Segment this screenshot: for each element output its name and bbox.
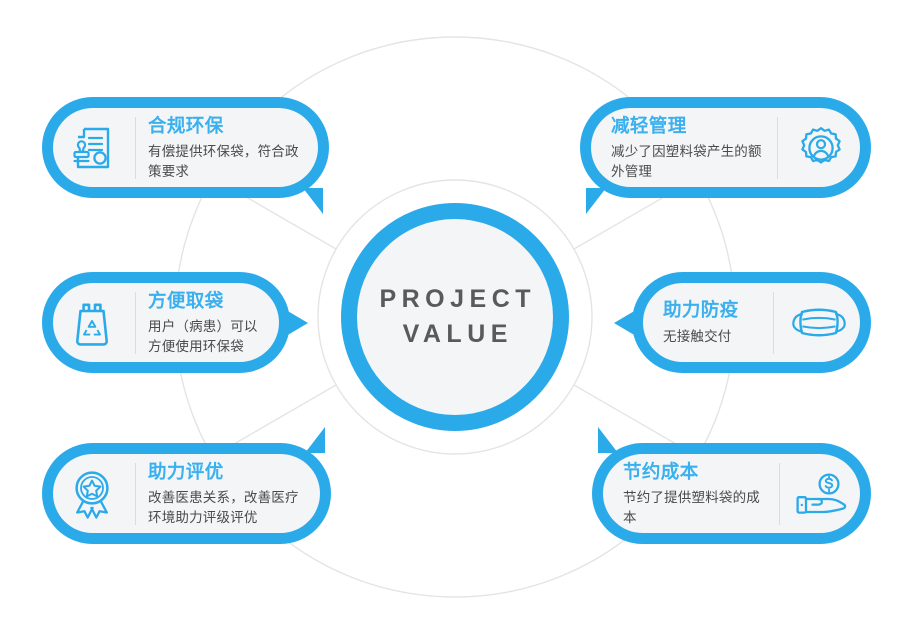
card-cost-title: 节约成本 <box>623 460 767 484</box>
card-rating-inner: 助力评优 改善医患关系，改善医疗环境助力评级评优 <box>53 454 320 533</box>
card-epidemic[interactable]: 助力防疫 无接触交付 <box>632 272 871 373</box>
center-title-line1: PROJECT <box>374 282 536 318</box>
card-tail-top-right <box>305 427 325 453</box>
center-title-line2: VALUE <box>397 317 513 353</box>
recycle-bag-icon <box>61 299 123 347</box>
hand-money-icon <box>792 472 852 516</box>
infographic-canvas: PROJECT VALUE 合规环保 <box>0 0 913 634</box>
card-manage-desc: 减少了因塑料袋产生的额外管理 <box>611 142 765 182</box>
card-epidemic-desc: 无接触交付 <box>663 327 761 347</box>
card-divider <box>135 463 136 525</box>
card-epidemic-title: 助力防疫 <box>663 298 761 322</box>
card-rating-desc: 改善医患关系，改善医疗环境助力评级评优 <box>148 488 312 528</box>
card-divider <box>773 292 774 354</box>
card-rating-text: 助力评优 改善医患关系，改善医疗环境助力评级评优 <box>148 460 312 528</box>
document-stamp-icon <box>61 125 123 171</box>
card-cost-desc: 节约了提供塑料袋的成本 <box>623 488 767 528</box>
card-manage-inner: 减轻管理 减少了因塑料袋产生的额外管理 <box>591 108 860 187</box>
card-compliance-text: 合规环保 有偿提供环保袋，符合政策要求 <box>148 114 310 182</box>
card-manage[interactable]: 减轻管理 减少了因塑料袋产生的额外管理 <box>580 97 871 198</box>
card-bag-title: 方便取袋 <box>148 289 271 313</box>
card-compliance[interactable]: 合规环保 有偿提供环保袋，符合政策要求 <box>42 97 329 198</box>
card-cost-text: 节约成本 节约了提供塑料袋的成本 <box>611 460 767 528</box>
card-tail-left <box>614 310 636 336</box>
card-bag[interactable]: 方便取袋 用户（病患）可以方便使用环保袋 <box>42 272 290 373</box>
center-hub: PROJECT VALUE <box>341 203 569 431</box>
card-bag-desc: 用户（病患）可以方便使用环保袋 <box>148 317 271 357</box>
card-divider <box>135 292 136 354</box>
card-manage-title: 减轻管理 <box>611 114 765 138</box>
card-epidemic-inner: 助力防疫 无接触交付 <box>643 283 860 362</box>
card-compliance-desc: 有偿提供环保袋，符合政策要求 <box>148 142 310 182</box>
card-compliance-title: 合规环保 <box>148 114 310 138</box>
card-cost[interactable]: 节约成本 节约了提供塑料袋的成本 <box>592 443 871 544</box>
card-bag-inner: 方便取袋 用户（病患）可以方便使用环保袋 <box>53 283 279 362</box>
card-divider <box>135 117 136 179</box>
card-cost-inner: 节约成本 节约了提供塑料袋的成本 <box>603 454 860 533</box>
award-medal-icon <box>61 469 123 519</box>
card-rating[interactable]: 助力评优 改善医患关系，改善医疗环境助力评级评优 <box>42 443 331 544</box>
card-rating-title: 助力评优 <box>148 460 312 484</box>
gear-person-icon <box>790 125 852 171</box>
card-tail-bottom-right <box>303 188 323 214</box>
card-manage-text: 减轻管理 减少了因塑料袋产生的额外管理 <box>599 114 765 182</box>
card-epidemic-text: 助力防疫 无接触交付 <box>651 298 761 346</box>
card-tail-bottom-left <box>586 188 606 214</box>
face-mask-icon <box>786 303 852 343</box>
card-divider <box>779 463 780 525</box>
card-tail-right <box>286 310 308 336</box>
card-compliance-inner: 合规环保 有偿提供环保袋，符合政策要求 <box>53 108 318 187</box>
card-tail-top-left <box>598 427 618 453</box>
card-divider <box>777 117 778 179</box>
card-bag-text: 方便取袋 用户（病患）可以方便使用环保袋 <box>148 289 271 357</box>
